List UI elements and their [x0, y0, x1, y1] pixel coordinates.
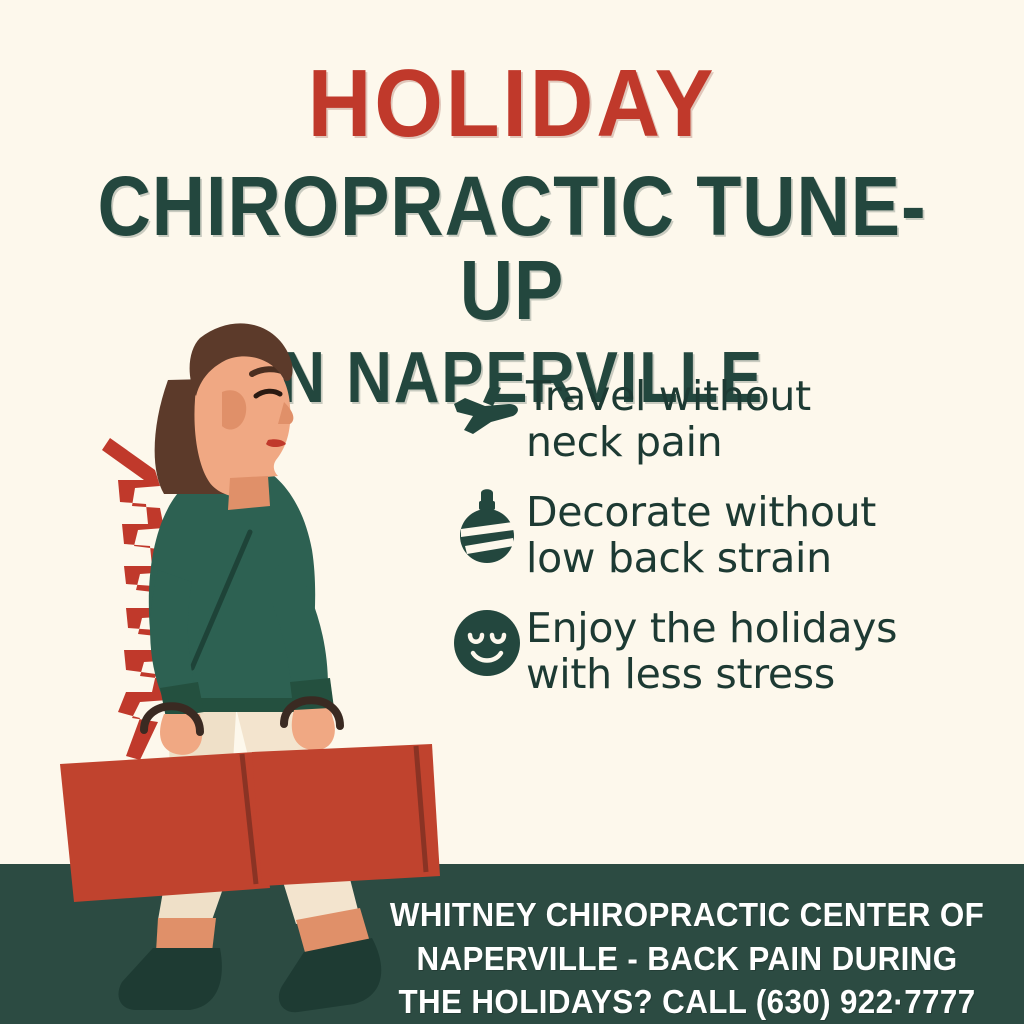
- list-item: Decorate without low back strain: [448, 488, 988, 582]
- footer-contact-text: WHITNEY CHIROPRACTIC CENTER OF NAPERVILL…: [388, 893, 987, 1024]
- list-item: Travel without neck pain: [448, 372, 988, 466]
- benefit-text: Travel without neck pain: [526, 372, 988, 466]
- benefits-list: Travel without neck pain Decorate withou…: [448, 372, 988, 719]
- airplane-icon: [448, 372, 526, 450]
- smiley-face-icon: [448, 604, 526, 682]
- benefit-text: Enjoy the holidays with less stress: [526, 604, 988, 698]
- page-title: HOLIDAY: [41, 56, 983, 152]
- list-item: Enjoy the holidays with less stress: [448, 604, 988, 698]
- ornament-icon: [448, 488, 526, 566]
- poster-canvas: HOLIDAY CHIROPRACTIC TUNE-UP IN NAPERVIL…: [0, 0, 1024, 1024]
- benefit-text: Decorate without low back strain: [526, 488, 988, 582]
- page-subtitle: CHIROPRACTIC TUNE-UP: [61, 164, 962, 332]
